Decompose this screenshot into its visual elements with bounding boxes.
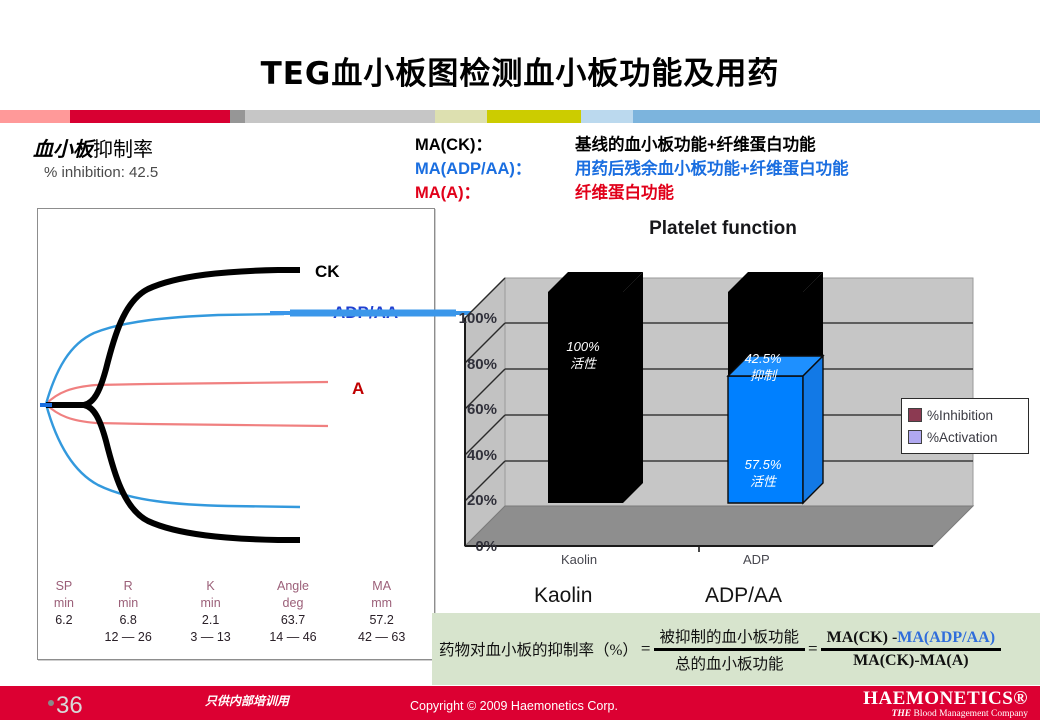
ma-ck-key: MA(CK)： — [415, 133, 575, 157]
teg-table-units-cell-2: min — [173, 595, 249, 612]
teg-table-ranges-cell-2: 3 — 13 — [173, 629, 249, 646]
teg-table-values: 6.26.82.163.757.2 — [44, 612, 426, 629]
footer-copyright: Copyright © 2009 Haemonetics Corp. — [410, 699, 618, 713]
teg-table-units-cell-1: min — [84, 595, 173, 612]
ma-a-value: 纤维蛋白功能 — [575, 181, 1035, 205]
formula-fraction-ma-numerator: MA(CK) -MA(ADP/AA) — [821, 628, 1001, 648]
slide-root: TEG血小板图检测血小板功能及用药 血小板抑制率 % inhibition: 4… — [0, 0, 1040, 720]
teg-curve-adp-lower — [46, 404, 300, 507]
y-tick-80pct: 80% — [443, 356, 497, 373]
formula-ma-adp-aa: MA(ADP/AA) — [897, 629, 995, 646]
ma-row-a: MA(A)： 纤维蛋白功能 — [415, 181, 1035, 205]
ma-a-key: MA(A)： — [415, 181, 575, 205]
teg-table-ranges-cell-4: 42 — 63 — [337, 629, 426, 646]
formula-equals-2: = — [805, 639, 821, 659]
teg-table-units-cell-0: min — [44, 595, 84, 612]
axis-overlay-kaolin: Kaolin — [534, 584, 592, 608]
teg-table-values-cell-0: 6.2 — [44, 612, 84, 629]
bar-annotation-kaolin-unit: 活性 — [535, 355, 631, 372]
teg-table-header-cell-1: R — [84, 578, 173, 595]
formula-left-side: 药物对血小板的抑制率（%） — [432, 638, 638, 660]
color-band-segment-2 — [230, 110, 245, 123]
teg-table-ranges-cell-3: 14 — 46 — [249, 629, 338, 646]
formula-fraction-cn: 被抑制的血小板功能 总的血小板功能 — [654, 624, 806, 675]
page-title: TEG血小板图检测血小板功能及用药 — [0, 48, 1040, 93]
teg-table-units-cell-4: mm — [337, 595, 426, 612]
chart-3d-svg — [443, 218, 1038, 568]
footer-internal-note: 只供内部培训用 — [205, 692, 289, 709]
bar-annotation-adp-activation-unit: 活性 — [715, 473, 811, 490]
teg-table-header-cell-0: SP — [44, 578, 84, 595]
inhibition-heading-rest: 抑制率 — [93, 139, 153, 161]
y-tick-20pct: 20% — [443, 492, 497, 509]
color-band-segment-0 — [0, 110, 70, 123]
teg-table-header-cell-4: MA — [337, 578, 426, 595]
page-number: 36 — [56, 692, 83, 720]
brand-name: HAEMONETICS® — [863, 688, 1028, 710]
teg-table-ranges-cell-1: 12 — 26 — [84, 629, 173, 646]
legend-swatch-activation — [908, 430, 922, 444]
teg-table-ranges-cell-0 — [44, 629, 84, 646]
axis-overlay-adp-aa: ADP/AA — [705, 584, 782, 608]
color-band-segment-4 — [435, 110, 487, 123]
formula-ma-ck-minus: MA(CK) - — [827, 629, 898, 646]
inhibition-formula: 药物对血小板的抑制率（%） = 被抑制的血小板功能 总的血小板功能 = MA(C… — [432, 613, 1040, 685]
inhibition-heading-italic: 血小板 — [33, 139, 93, 161]
brand-logo: HAEMONETICS® THE Blood Management Compan… — [863, 688, 1028, 719]
formula-fraction-ma: MA(CK) -MA(ADP/AA) MA(CK)-MA(A) — [821, 628, 1001, 671]
formula-fraction-cn-denominator: 总的血小板功能 — [669, 651, 790, 675]
y-tick-0pct: 0% — [443, 538, 497, 555]
teg-table-values-cell-1: 6.8 — [84, 612, 173, 629]
chart-x-tick-adp: ADP — [743, 552, 770, 567]
color-band-segment-5 — [487, 110, 581, 123]
ma-definitions: MA(CK)： 基线的血小板功能+纤维蛋白功能 MA(ADP/AA)： 用药后残… — [415, 133, 1035, 205]
bar-annotation-kaolin: 100% 活性 — [535, 338, 631, 372]
legend-item-inhibition: %Inhibition — [908, 404, 1022, 426]
bar-annotation-adp-activation-value: 57.5% — [715, 456, 811, 473]
platelet-function-chart: Platelet function — [443, 218, 1038, 568]
bar-annotation-kaolin-value: 100% — [535, 338, 631, 355]
teg-table-header: SPRKAngleMA — [44, 578, 426, 595]
ma-row-adp-aa: MA(ADP/AA)： 用药后残余血小板功能+纤维蛋白功能 — [415, 157, 1035, 181]
teg-table-values-cell-3: 63.7 — [249, 612, 338, 629]
bar-annotation-adp-activation: 57.5% 活性 — [715, 456, 811, 490]
color-band-segment-3 — [245, 110, 435, 123]
legend-item-activation: %Activation — [908, 426, 1022, 448]
formula-fraction-cn-numerator: 被抑制的血小板功能 — [654, 624, 806, 648]
teg-table-units: minminmindegmm — [44, 595, 426, 612]
teg-label-ck: CK — [315, 262, 340, 282]
ma-adp-aa-key: MA(ADP/AA)： — [415, 157, 575, 181]
formula-equals-1: = — [638, 639, 654, 659]
color-band-segment-7 — [633, 110, 1040, 123]
chart-legend: %Inhibition %Activation — [901, 398, 1029, 454]
teg-table-ranges: 12 — 263 — 1314 — 4642 — 63 — [44, 629, 426, 646]
ma-ck-value: 基线的血小板功能+纤维蛋白功能 — [575, 133, 1035, 157]
bar-annotation-adp-inhibition: 42.5% 抑制 — [715, 350, 811, 384]
teg-table-values-cell-2: 2.1 — [173, 612, 249, 629]
legend-swatch-inhibition — [908, 408, 922, 422]
ma-adp-aa-value: 用药后残余血小板功能+纤维蛋白功能 — [575, 157, 1035, 181]
color-band-segment-1 — [70, 110, 230, 123]
legend-label-activation: %Activation — [927, 430, 998, 445]
chart-x-tick-kaolin: Kaolin — [561, 552, 597, 567]
formula-fraction-ma-denominator: MA(CK)-MA(A) — [847, 651, 975, 671]
color-band-segment-6 — [581, 110, 633, 123]
brand-tagline-rest: Blood Management Company — [911, 709, 1028, 719]
brand-tagline-the: THE — [892, 709, 912, 719]
y-tick-100pct: 100% — [443, 310, 497, 327]
teg-curve-adp-upper — [46, 314, 284, 404]
inhibition-rate-heading: 血小板抑制率 — [33, 133, 153, 162]
inhibition-percent-value: % inhibition: 42.5 — [44, 164, 158, 181]
teg-table-header-cell-3: Angle — [249, 578, 338, 595]
brand-tagline: THE Blood Management Company — [863, 709, 1028, 719]
teg-parameters-table: SPRKAngleMAminminmindegmm6.26.82.163.757… — [44, 578, 426, 650]
teg-table-units-cell-3: deg — [249, 595, 338, 612]
y-tick-40pct: 40% — [443, 447, 497, 464]
decorative-color-band — [0, 110, 1040, 123]
bar-annotation-adp-inhibition-value: 42.5% — [715, 350, 811, 367]
bar-annotation-adp-inhibition-unit: 抑制 — [715, 367, 811, 384]
legend-label-inhibition: %Inhibition — [927, 408, 993, 423]
ma-row-ck: MA(CK)： 基线的血小板功能+纤维蛋白功能 — [415, 133, 1035, 157]
page-bullet-icon — [48, 700, 54, 706]
y-tick-60pct: 60% — [443, 401, 497, 418]
teg-table-values-cell-4: 57.2 — [337, 612, 426, 629]
teg-table-header-cell-2: K — [173, 578, 249, 595]
